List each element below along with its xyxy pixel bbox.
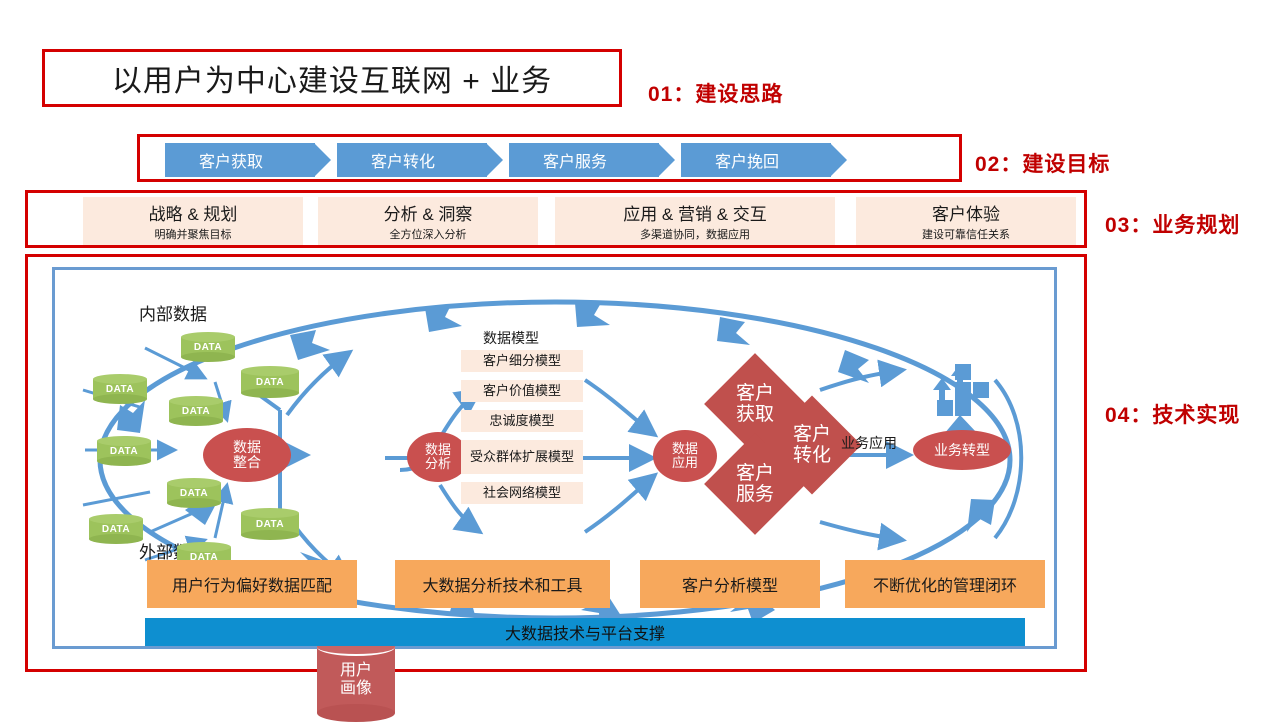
data-cylinder-label: DATA	[89, 514, 143, 544]
planning-cell-title: 应用 & 营销 & 交互	[623, 200, 767, 225]
user-profile-line-1: 用户	[340, 662, 372, 680]
chevron-item-1[interactable]: 客户转化	[337, 143, 487, 177]
business-application-label: 业务应用	[841, 433, 897, 453]
data-cylinder[interactable]: DATA	[241, 366, 299, 398]
data-cylinder[interactable]: DATA	[93, 374, 147, 404]
data-cylinder-label: DATA	[241, 508, 299, 540]
chevron-item-0[interactable]: 客户获取	[165, 143, 315, 177]
data-cylinder[interactable]: DATA	[97, 436, 151, 466]
data-cylinder-label: DATA	[167, 478, 221, 508]
data-integration-line-1: 数据	[233, 440, 261, 455]
page-title: 以用户为中心建设互联网 + 业务	[112, 56, 552, 100]
support-box-0[interactable]: 用户行为偏好数据匹配	[147, 560, 357, 608]
main-title-box: 以用户为中心建设互联网 + 业务	[42, 49, 622, 107]
chevron-item-3[interactable]: 客户挽回	[681, 143, 831, 177]
section-label-01: 01：建设思路	[648, 78, 783, 108]
up-arrow-icon	[929, 366, 969, 412]
diamond-acq-line-2: 获取	[736, 404, 774, 425]
model-chip-2[interactable]: 忠诚度模型	[461, 410, 583, 432]
goals-chevron-row: 客户获取 客户转化 客户服务 客户挽回	[137, 134, 962, 182]
data-cylinder-label: DATA	[97, 436, 151, 466]
diamond-svc-line-1: 客户	[736, 463, 774, 484]
user-profile-cylinder[interactable]: 用户 画像	[317, 638, 395, 722]
model-chip-1[interactable]: 客户价值模型	[461, 380, 583, 402]
data-cylinder-label: DATA	[241, 366, 299, 398]
diamond-conv-line-2: 转化	[793, 445, 831, 466]
data-cylinder[interactable]: DATA	[241, 508, 299, 540]
planning-cell-title: 分析 & 洞察	[384, 200, 473, 225]
planning-cell-0[interactable]: 战略 & 规划 明确并聚焦目标	[83, 197, 303, 245]
planning-cell-subtitle: 明确并聚焦目标	[155, 226, 232, 242]
planning-cell-1[interactable]: 分析 & 洞察 全方位深入分析	[318, 197, 538, 245]
internal-data-label: 内部数据	[139, 300, 207, 325]
data-cylinder[interactable]: DATA	[169, 396, 223, 426]
chevron-label: 客户转化	[371, 148, 435, 172]
tech-inner-frame: 内部数据 外部数据 DATA DATA DATA DATA	[52, 267, 1057, 649]
model-chip-3[interactable]: 受众群体扩展模型	[461, 440, 583, 474]
planning-cell-title: 客户体验	[932, 200, 1000, 225]
data-analysis-ellipse[interactable]: 数据 分析	[407, 432, 469, 482]
chevron-label: 客户服务	[543, 148, 607, 172]
support-box-2[interactable]: 客户分析模型	[640, 560, 820, 608]
data-application-line-2: 应用	[672, 456, 698, 470]
planning-cell-3[interactable]: 客户体验 建设可靠信任关系	[856, 197, 1076, 245]
chevron-label: 客户获取	[199, 148, 263, 172]
chevron-item-2[interactable]: 客户服务	[509, 143, 659, 177]
data-integration-ellipse[interactable]: 数据 整合	[203, 428, 291, 482]
support-box-1[interactable]: 大数据分析技术和工具	[395, 560, 610, 608]
data-cylinder[interactable]: DATA	[89, 514, 143, 544]
data-analysis-line-2: 分析	[425, 457, 451, 471]
data-integration-line-2: 整合	[233, 455, 261, 470]
planning-cell-subtitle: 多渠道协同，数据应用	[640, 226, 750, 242]
data-cylinder-label: DATA	[169, 396, 223, 426]
data-cylinder[interactable]: DATA	[181, 332, 235, 362]
model-chip-4[interactable]: 社会网络模型	[461, 482, 583, 504]
data-cylinder-label: DATA	[93, 374, 147, 404]
support-box-3[interactable]: 不断优化的管理闭环	[845, 560, 1045, 608]
section-label-04: 04：技术实现	[1105, 399, 1240, 429]
user-profile-text: 用户 画像	[317, 638, 395, 722]
planning-cell-subtitle: 建设可靠信任关系	[922, 226, 1010, 242]
section-label-02: 02：建设目标	[975, 148, 1110, 178]
planning-cell-2[interactable]: 应用 & 营销 & 交互 多渠道协同，数据应用	[555, 197, 835, 245]
growth-bar-icon	[973, 382, 989, 398]
business-planning-row: 战略 & 规划 明确并聚焦目标 分析 & 洞察 全方位深入分析 应用 & 营销 …	[25, 190, 1087, 248]
business-transformation-label: 业务转型	[934, 443, 990, 458]
data-cylinder[interactable]: DATA	[167, 478, 221, 508]
diamond-acq-line-1: 客户	[736, 383, 774, 404]
section-label-03: 03：业务规划	[1105, 209, 1240, 239]
diamond-conv-line-1: 客户	[793, 424, 831, 445]
planning-cell-subtitle: 全方位深入分析	[390, 226, 467, 242]
user-profile-line-2: 画像	[340, 680, 372, 698]
tech-implementation-frame: 内部数据 外部数据 DATA DATA DATA DATA	[25, 254, 1087, 672]
model-group-title: 数据模型	[483, 328, 539, 348]
chevron-label: 客户挽回	[715, 148, 779, 172]
diamond-svc-line-2: 服务	[736, 484, 774, 505]
data-analysis-line-1: 数据	[425, 443, 451, 457]
data-cylinder-label: DATA	[181, 332, 235, 362]
platform-support-bar[interactable]: 大数据技术与平台支撑	[145, 618, 1025, 646]
planning-cell-title: 战略 & 规划	[149, 200, 238, 225]
data-application-line-1: 数据	[672, 442, 698, 456]
data-application-ellipse[interactable]: 数据 应用	[653, 430, 717, 482]
business-transformation-ellipse[interactable]: 业务转型	[913, 430, 1011, 470]
model-chip-0[interactable]: 客户细分模型	[461, 350, 583, 372]
